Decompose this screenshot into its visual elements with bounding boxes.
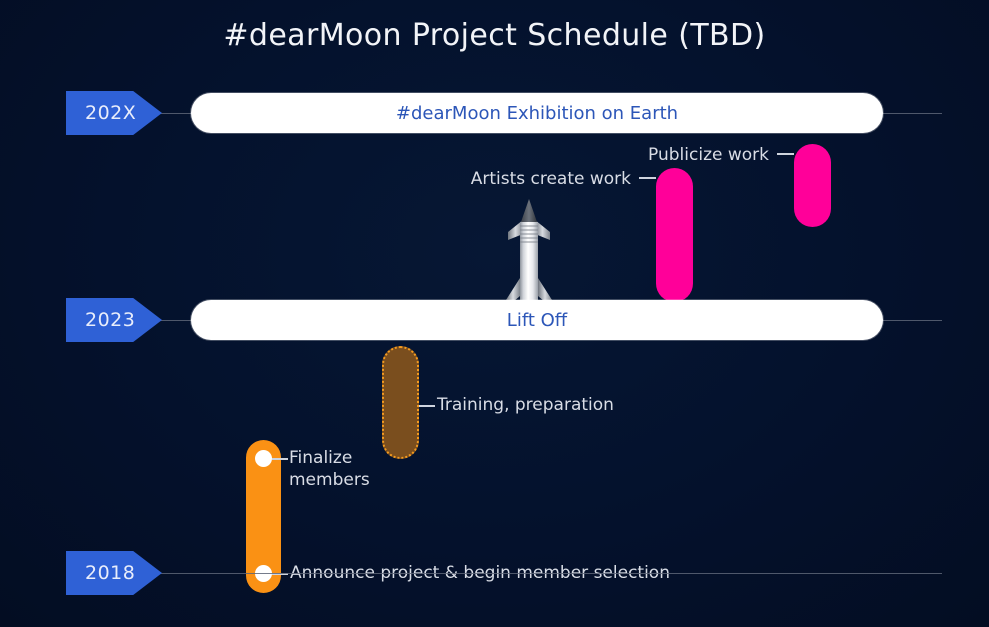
milestone-pill-lift-off[interactable]: Lift Off bbox=[191, 300, 883, 340]
year-tag-202x[interactable]: 202X bbox=[66, 91, 162, 135]
annotation-artists-create-work: Artists create work bbox=[379, 168, 631, 190]
starship-rocket-icon bbox=[494, 196, 564, 311]
node-dot-finalize-members[interactable] bbox=[255, 450, 272, 467]
annotation-finalize-members: Finalize members bbox=[289, 447, 399, 491]
annotation-publicize-work: Publicize work bbox=[520, 144, 769, 166]
duration-bar-artists-create-work[interactable] bbox=[656, 168, 693, 302]
year-tag-2023[interactable]: 2023 bbox=[66, 298, 162, 342]
year-tag-label-2023: 2023 bbox=[66, 309, 135, 331]
leader-line-publicize-work bbox=[777, 153, 794, 155]
leader-line-training-preparation bbox=[419, 405, 435, 407]
year-tag-label-202x: 202X bbox=[66, 102, 136, 124]
milestone-pill-label-exhibition: #dearMoon Exhibition on Earth bbox=[396, 103, 678, 124]
year-tag-label-2018: 2018 bbox=[66, 562, 135, 584]
row-connector-line-2018 bbox=[152, 573, 942, 574]
page-title: #dearMoon Project Schedule (TBD) bbox=[0, 18, 989, 53]
duration-bar-publicize-work[interactable] bbox=[794, 144, 831, 227]
leader-line-finalize-members bbox=[272, 458, 288, 460]
annotation-training-preparation: Training, preparation bbox=[437, 394, 614, 416]
dearmoon-schedule-diagram: #dearMoon Project Schedule (TBD) 202X #d… bbox=[0, 0, 989, 627]
leader-line-artists-create-work bbox=[639, 177, 656, 179]
duration-bar-training-preparation[interactable] bbox=[382, 346, 419, 459]
milestone-pill-exhibition[interactable]: #dearMoon Exhibition on Earth bbox=[191, 93, 883, 133]
milestone-pill-label-lift-off: Lift Off bbox=[507, 310, 567, 331]
year-tag-2018[interactable]: 2018 bbox=[66, 551, 162, 595]
